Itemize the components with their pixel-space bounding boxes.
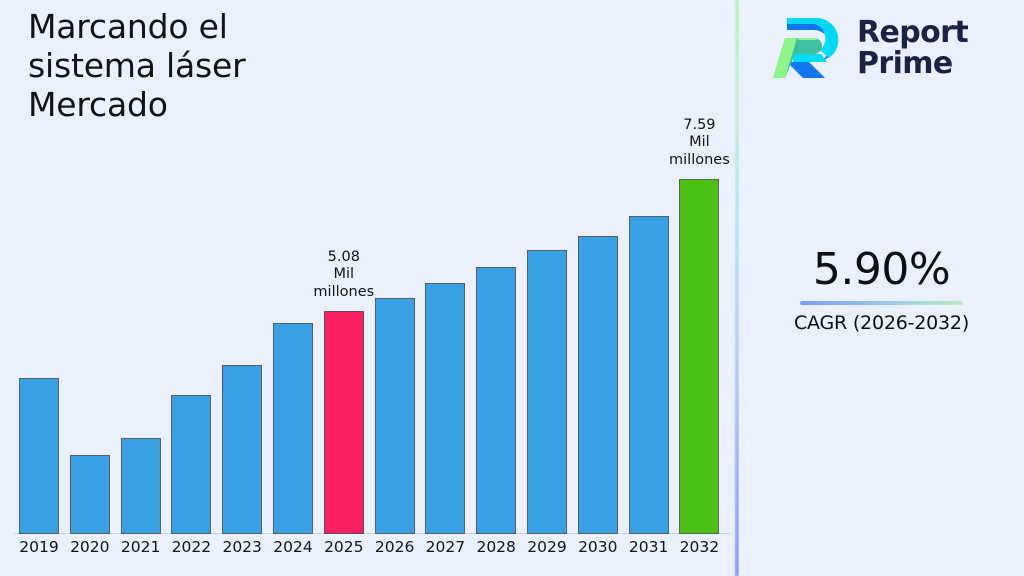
- x-axis-label-2026: 2026: [368, 538, 422, 556]
- cagr-block: 5.90% CAGR (2026-2032): [739, 248, 1024, 334]
- bar-2027: [425, 283, 465, 534]
- x-axis-label-2030: 2030: [571, 538, 625, 556]
- cagr-divider-rule: [800, 301, 963, 305]
- bar-2025: [324, 311, 364, 534]
- bar-chart: 2019202020212022202320245.08 Mil millone…: [0, 0, 737, 576]
- bar-2024: [273, 323, 313, 534]
- bar-2026: [375, 298, 415, 534]
- brand-logo: Report Prime: [773, 12, 968, 86]
- bar-2029: [527, 250, 567, 534]
- x-axis-label-2027: 2027: [418, 538, 472, 556]
- x-axis-label-2022: 2022: [164, 538, 218, 556]
- bar-2023: [222, 365, 262, 534]
- brand-panel: Report Prime 5.90% CAGR (2026-2032): [739, 0, 1024, 576]
- bar-2031: [629, 216, 669, 534]
- x-axis-label-2019: 2019: [12, 538, 66, 556]
- x-axis-label-2029: 2029: [520, 538, 574, 556]
- bar-2019: [19, 378, 59, 534]
- bar-2028: [476, 267, 516, 534]
- bar-2032: [679, 179, 719, 534]
- bar-value-label-2025: 5.08 Mil millones: [289, 249, 399, 301]
- x-axis-label-2032: 2032: [672, 538, 726, 556]
- cagr-value: 5.90%: [739, 248, 1024, 292]
- x-axis-label-2021: 2021: [114, 538, 168, 556]
- x-axis-label-2028: 2028: [469, 538, 523, 556]
- cagr-caption: CAGR (2026-2032): [739, 312, 1024, 334]
- chart-panel: Marcando el sistema láser Mercado 201920…: [0, 0, 737, 576]
- poster-root: Marcando el sistema láser Mercado 201920…: [0, 0, 1024, 576]
- brand-name: Report Prime: [857, 18, 968, 79]
- x-axis-label-2025: 2025: [317, 538, 371, 556]
- report-prime-logo-icon: [773, 12, 845, 86]
- bar-2021: [121, 438, 161, 534]
- x-axis-label-2023: 2023: [215, 538, 269, 556]
- x-axis-label-2020: 2020: [63, 538, 117, 556]
- bar-2030: [578, 236, 618, 534]
- bar-2020: [70, 455, 110, 534]
- bar-2022: [171, 395, 211, 534]
- x-axis-label-2031: 2031: [622, 538, 676, 556]
- x-axis-label-2024: 2024: [266, 538, 320, 556]
